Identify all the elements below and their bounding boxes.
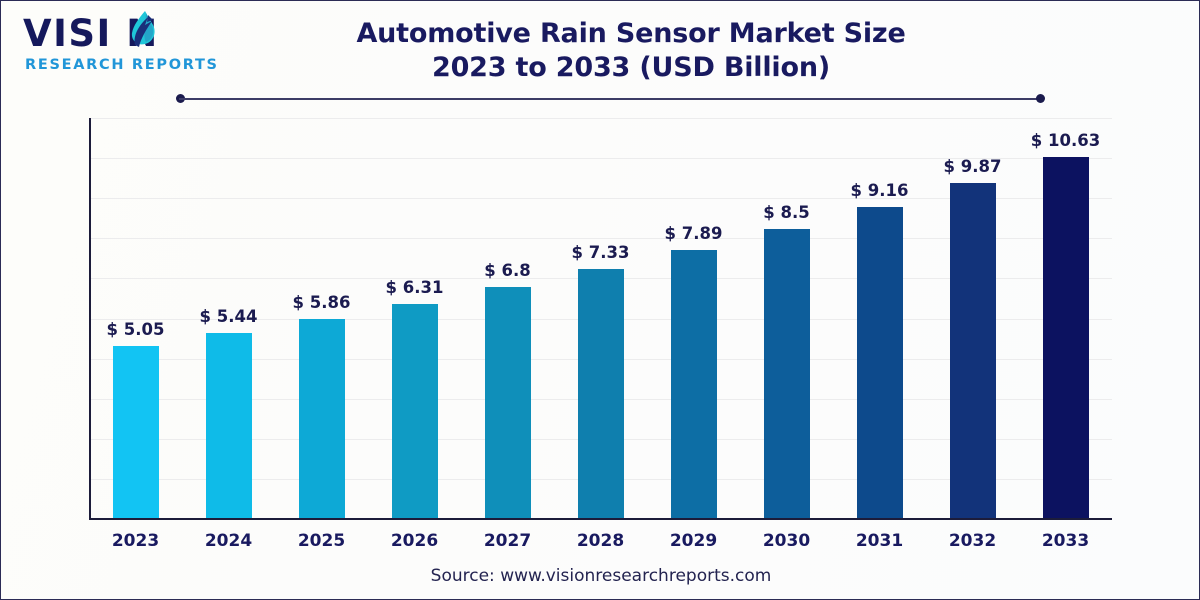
bar-value-label: $ 10.63 bbox=[1006, 131, 1126, 150]
page-title-line1: Automotive Rain Sensor Market Size bbox=[231, 17, 1031, 51]
bar[interactable] bbox=[299, 319, 345, 518]
bar-value-label: $ 9.16 bbox=[820, 181, 940, 200]
page-title: Automotive Rain Sensor Market Size 2023 … bbox=[231, 17, 1031, 85]
gridline bbox=[89, 118, 1112, 119]
bar[interactable] bbox=[950, 183, 996, 518]
company-logo: VISI N RESEARCH REPORTS bbox=[15, 13, 215, 85]
bar-value-label: $ 9.87 bbox=[913, 157, 1033, 176]
bar-value-label: $ 6.8 bbox=[448, 261, 568, 280]
bar[interactable] bbox=[1043, 157, 1089, 518]
page-title-line2: 2023 to 2033 (USD Billion) bbox=[231, 51, 1031, 85]
logo-tagline: RESEARCH REPORTS bbox=[25, 57, 219, 73]
chart-infographic: VISI N RESEARCH REPORTS Automotive Rain … bbox=[0, 0, 1200, 600]
y-axis-line bbox=[89, 118, 91, 519]
x-axis-tick-label: 2033 bbox=[1006, 531, 1126, 551]
logo-wordmark: VISI N bbox=[15, 13, 205, 55]
header: VISI N RESEARCH REPORTS Automotive Rain … bbox=[1, 1, 1200, 93]
bar[interactable] bbox=[113, 346, 159, 518]
bar[interactable] bbox=[392, 304, 438, 518]
water-droplet-arrow-icon bbox=[119, 9, 159, 55]
bar-value-label: $ 8.5 bbox=[727, 203, 847, 222]
source-caption: Source: www.visionresearchreports.com bbox=[1, 566, 1200, 586]
x-axis-line bbox=[89, 518, 1112, 520]
bar[interactable] bbox=[206, 333, 252, 518]
bar-value-label: $ 7.33 bbox=[541, 243, 661, 262]
bar[interactable] bbox=[764, 229, 810, 518]
bar[interactable] bbox=[671, 250, 717, 518]
bar-chart: $ 5.05$ 5.44$ 5.86$ 6.31$ 6.8$ 7.33$ 7.8… bbox=[89, 118, 1112, 519]
plot-area: $ 5.05$ 5.44$ 5.86$ 6.31$ 6.8$ 7.33$ 7.8… bbox=[89, 118, 1112, 519]
bar-value-label: $ 6.31 bbox=[355, 278, 475, 297]
bar-value-label: $ 7.89 bbox=[634, 224, 754, 243]
bar[interactable] bbox=[578, 269, 624, 518]
divider-dot-right bbox=[1036, 94, 1045, 103]
divider-line bbox=[179, 98, 1043, 100]
bar[interactable] bbox=[485, 287, 531, 518]
header-divider bbox=[176, 97, 1046, 100]
bar[interactable] bbox=[857, 207, 903, 518]
